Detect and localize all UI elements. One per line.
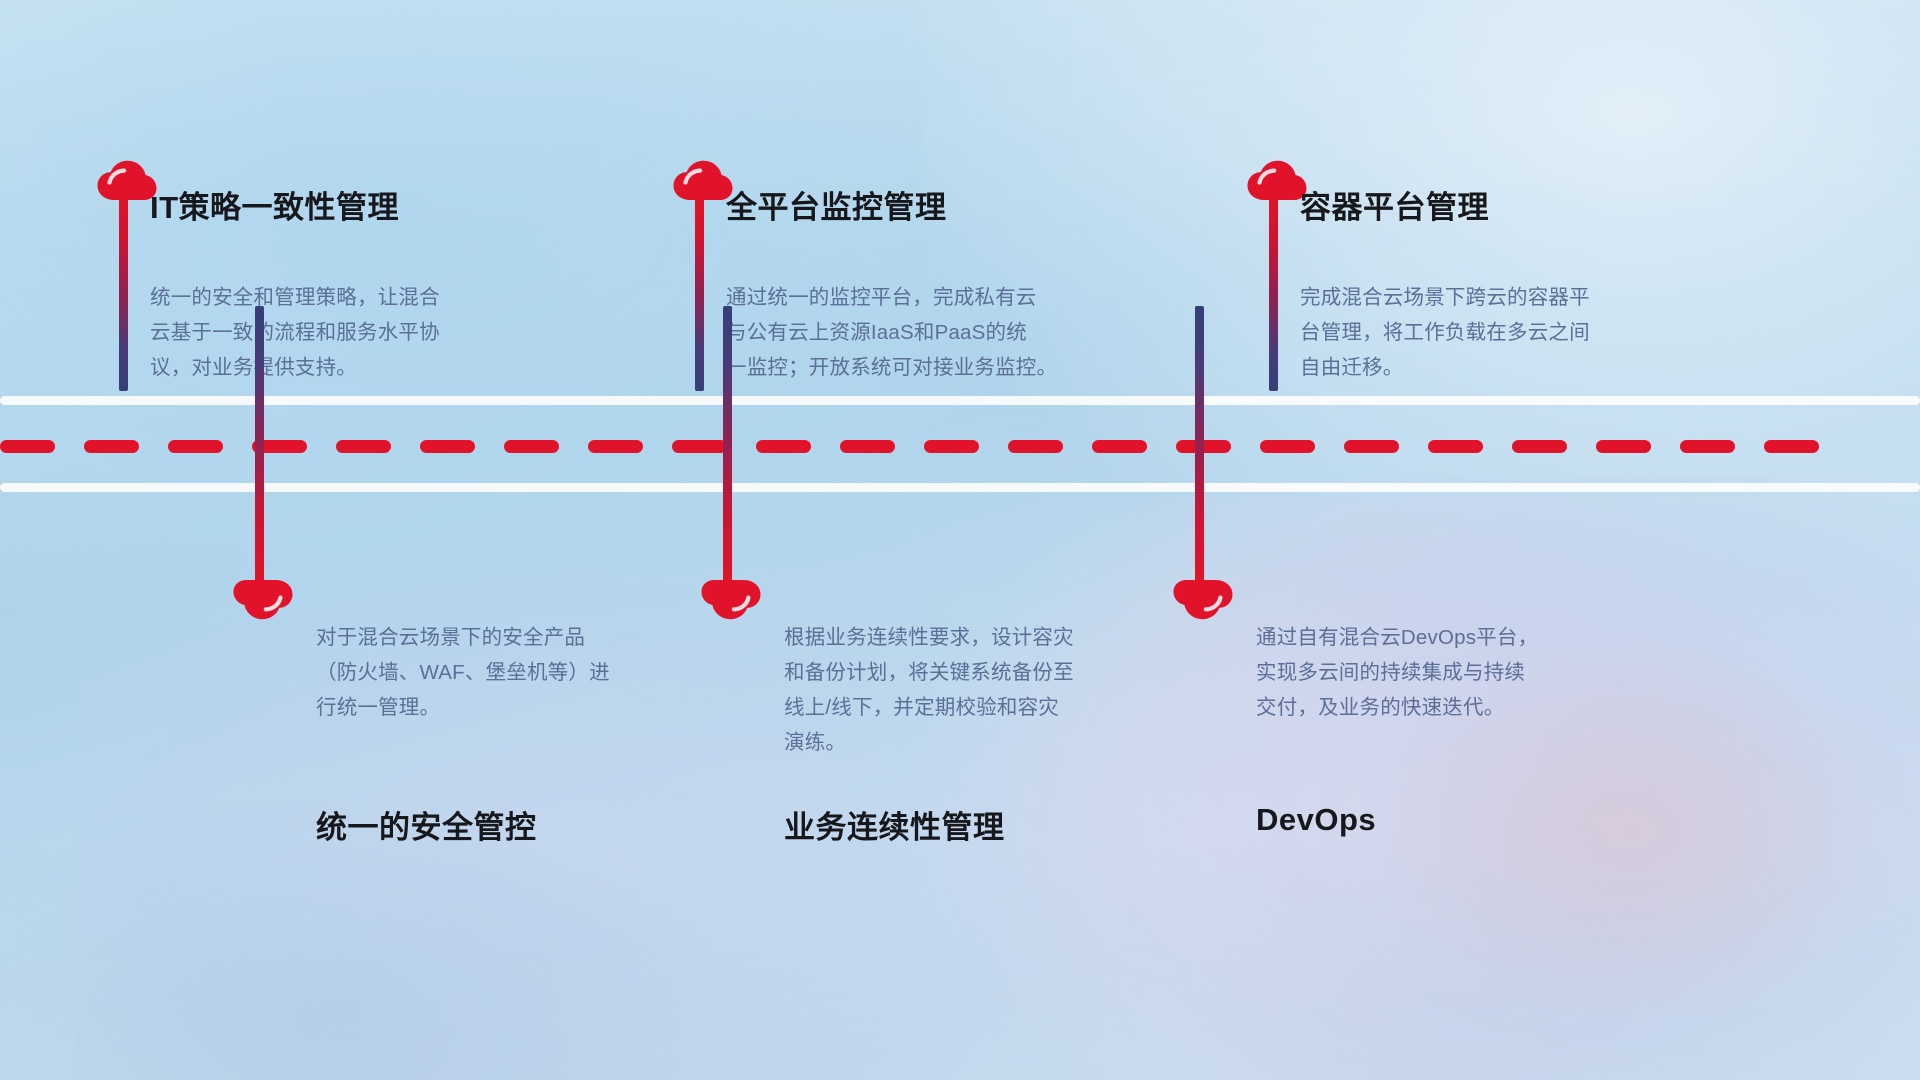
cloud-pin: [1246, 160, 1308, 202]
feature-title: DevOps: [1256, 802, 1376, 838]
pin-stem: [119, 196, 128, 391]
feature-description-line: 通过统一的监控平台，完成私有云: [726, 280, 1057, 315]
feature-description-line: 和备份计划，将关键系统备份至: [784, 655, 1074, 690]
feature-title: 全平台监控管理: [726, 182, 947, 227]
feature-title: 统一的安全管控: [316, 802, 537, 847]
road-dashed-centerline: [0, 440, 1920, 453]
feature-description-line: 云基于一致的流程和服务水平协: [150, 315, 440, 350]
road-dash-segment: [1428, 440, 1483, 453]
feature-title: IT策略一致性管理: [150, 182, 399, 227]
feature-description-line: 演练。: [784, 725, 1074, 760]
feature-description: 对于混合云场景下的安全产品 （防火墙、WAF、堡垒机等）进 行统一管理。: [316, 620, 610, 725]
feature-description: 完成混合云场景下跨云的容器平 台管理，将工作负载在多云之间 自由迁移。: [1300, 280, 1590, 385]
feature-description-line: 交付，及业务的快速迭代。: [1256, 690, 1538, 725]
cloud-pin-icon: [700, 578, 762, 620]
feature-description-line: 行统一管理。: [316, 690, 610, 725]
feature-description-line: 与公有云上资源IaaS和PaaS的统: [726, 315, 1057, 350]
feature-description-line: 对于混合云场景下的安全产品: [316, 620, 610, 655]
road-dash-segment: [1092, 440, 1147, 453]
road-dash-segment: [0, 440, 55, 453]
road-dash-segment: [1344, 440, 1399, 453]
road-divider: [0, 396, 1920, 492]
road-dash-segment: [84, 440, 139, 453]
feature-description-line: 议，对业务提供支持。: [150, 350, 440, 385]
road-dash-segment: [1260, 440, 1315, 453]
road-dash-segment: [1764, 440, 1819, 453]
feature-description: 通过自有混合云DevOps平台， 实现多云间的持续集成与持续 交付，及业务的快速…: [1256, 620, 1538, 725]
cloud-pin: [672, 160, 734, 202]
feature-description-line: 台管理，将工作负载在多云之间: [1300, 315, 1590, 350]
road-dash-segment: [420, 440, 475, 453]
feature-description: 统一的安全和管理策略，让混合 云基于一致的流程和服务水平协 议，对业务提供支持。: [150, 280, 440, 385]
road-dash-segment: [168, 440, 223, 453]
feature-description-line: 根据业务连续性要求，设计容灾: [784, 620, 1074, 655]
pin-stem: [255, 306, 264, 584]
road-dash-segment: [672, 440, 727, 453]
cloud-pin: [96, 160, 158, 202]
feature-description-line: 自由迁移。: [1300, 350, 1590, 385]
road-dash-segment: [1680, 440, 1735, 453]
pin-stem: [695, 196, 704, 391]
feature-description-line: 实现多云间的持续集成与持续: [1256, 655, 1538, 690]
road-dash-segment: [1512, 440, 1567, 453]
feature-description-line: 一监控；开放系统可对接业务监控。: [726, 350, 1057, 385]
road-dash-segment: [504, 440, 559, 453]
road-dash-segment: [1008, 440, 1063, 453]
feature-description-line: 通过自有混合云DevOps平台，: [1256, 620, 1538, 655]
background: [0, 0, 1920, 1080]
feature-description: 通过统一的监控平台，完成私有云 与公有云上资源IaaS和PaaS的统 一监控；开…: [726, 280, 1057, 385]
road-dash-segment: [336, 440, 391, 453]
feature-description-line: 线上/线下，并定期校验和容灾: [784, 690, 1074, 725]
pin-stem: [723, 306, 732, 584]
feature-title: 业务连续性管理: [784, 802, 1005, 847]
road-line-top: [0, 396, 1920, 405]
cloud-pin-icon: [232, 578, 294, 620]
pin-stem: [1269, 196, 1278, 391]
road-dash-segment: [924, 440, 979, 453]
feature-title: 容器平台管理: [1300, 182, 1489, 227]
background-vignette: [0, 0, 1920, 1080]
road-dash-segment: [1596, 440, 1651, 453]
road-dash-segment: [588, 440, 643, 453]
feature-description-line: 完成混合云场景下跨云的容器平: [1300, 280, 1590, 315]
feature-description-line: 统一的安全和管理策略，让混合: [150, 280, 440, 315]
cloud-pin-icon: [1172, 578, 1234, 620]
road-line-bottom: [0, 483, 1920, 492]
feature-description: 根据业务连续性要求，设计容灾 和备份计划，将关键系统备份至 线上/线下，并定期校…: [784, 620, 1074, 760]
feature-description-line: （防火墙、WAF、堡垒机等）进: [316, 655, 610, 690]
road-dash-segment: [756, 440, 811, 453]
road-dash-segment: [840, 440, 895, 453]
pin-stem: [1195, 306, 1204, 584]
